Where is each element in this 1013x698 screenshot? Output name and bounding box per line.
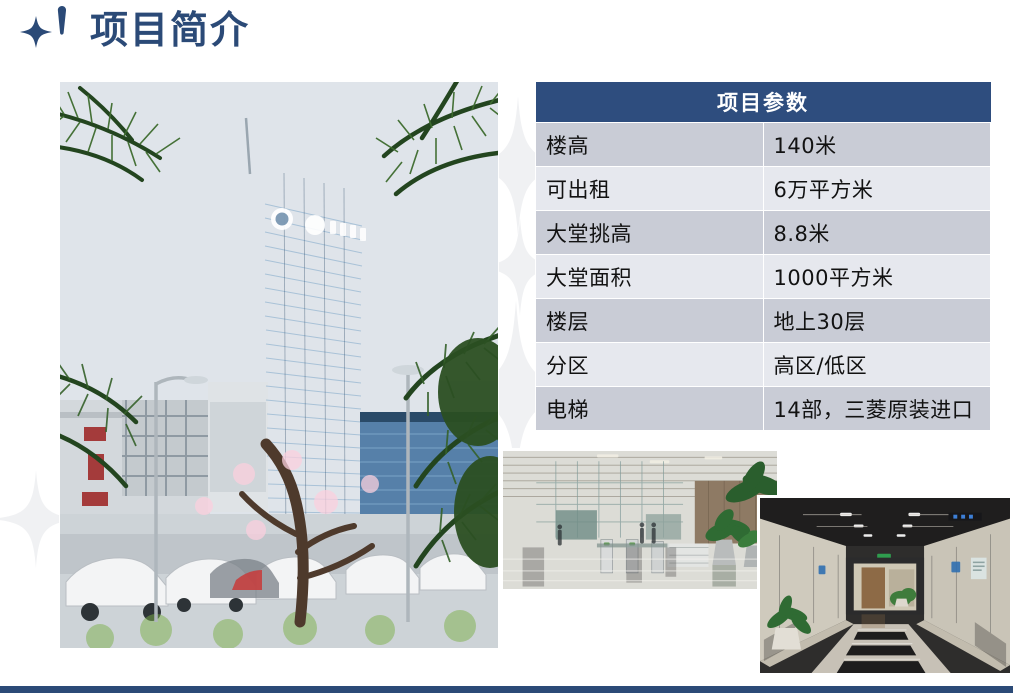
photo-elevator-corridor	[757, 495, 1013, 676]
param-value: 高区/低区	[763, 343, 991, 387]
table-row: 楼层 地上30层	[536, 299, 991, 343]
table-row: 楼高 140米	[536, 123, 991, 167]
table-row: 电梯 14部，三菱原装进口	[536, 387, 991, 431]
param-value: 6万平方米	[763, 167, 991, 211]
param-key: 大堂面积	[536, 255, 764, 299]
param-key: 楼高	[536, 123, 764, 167]
param-key: 可出租	[536, 167, 764, 211]
table-row: 大堂挑高 8.8米	[536, 211, 991, 255]
table-header-title: 项目参数	[536, 82, 991, 123]
param-value: 8.8米	[763, 211, 991, 255]
slide-title-row: 项目简介	[18, 2, 250, 58]
table-header-row: 项目参数	[536, 82, 991, 123]
photo-lobby-interior	[500, 448, 780, 592]
table-row: 可出租 6万平方米	[536, 167, 991, 211]
sparkle-decoration-icon	[18, 4, 78, 56]
table-row: 分区 高区/低区	[536, 343, 991, 387]
page-title: 项目简介	[90, 11, 250, 49]
photo-building-exterior	[60, 82, 498, 648]
param-value: 地上30层	[763, 299, 991, 343]
param-value: 140米	[763, 123, 991, 167]
project-parameters-table: 项目参数 楼高 140米 可出租 6万平方米 大堂挑高 8.8米 大堂面积 10…	[535, 82, 991, 431]
param-key: 分区	[536, 343, 764, 387]
param-key: 大堂挑高	[536, 211, 764, 255]
param-key: 楼层	[536, 299, 764, 343]
param-key: 电梯	[536, 387, 764, 431]
bottom-accent-bar	[0, 686, 1013, 693]
param-value: 14部，三菱原装进口	[763, 387, 991, 431]
table-row: 大堂面积 1000平方米	[536, 255, 991, 299]
param-value: 1000平方米	[763, 255, 991, 299]
